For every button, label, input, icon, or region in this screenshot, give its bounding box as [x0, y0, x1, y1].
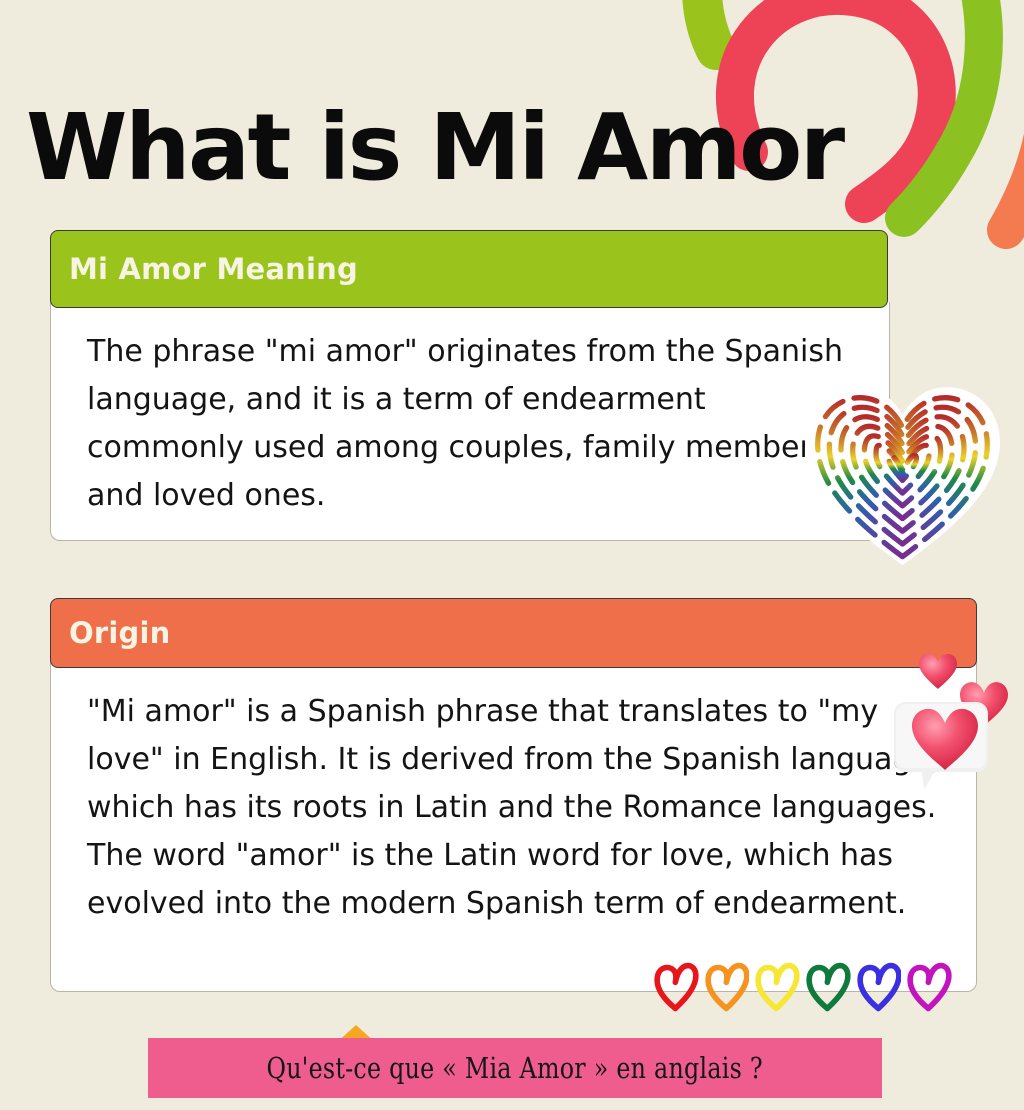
page-title: What is Mi Amor — [26, 100, 843, 197]
card-body-mi-amor-meaning: The phrase "mi amor" originates from the… — [50, 302, 890, 541]
card-body-origin: "Mi amor" is a Spanish phrase that trans… — [50, 662, 977, 992]
card-origin: Origin "Mi amor" is a Spanish phrase tha… — [50, 598, 977, 992]
green-arc-outer-icon — [702, 0, 716, 50]
bottom-banner[interactable]: Qu'est-ce que « Mia Amor » en anglais ? — [148, 1038, 882, 1098]
card-header-label: Origin — [69, 616, 170, 650]
orange-arc-icon — [1006, 62, 1024, 230]
green-arc-inner-icon — [904, 0, 984, 218]
card-mi-amor-meaning: Mi Amor Meaning The phrase "mi amor" ori… — [50, 230, 890, 541]
bottom-banner-text: Qu'est-ce que « Mia Amor » en anglais ? — [267, 1051, 763, 1085]
card-header-origin: Origin — [50, 598, 977, 668]
card-header-label: Mi Amor Meaning — [69, 252, 358, 286]
card-header-mi-amor-meaning: Mi Amor Meaning — [50, 230, 888, 308]
poster-root: What is Mi Amor ESL.COM Mi Amor Meaning … — [0, 0, 1024, 1110]
